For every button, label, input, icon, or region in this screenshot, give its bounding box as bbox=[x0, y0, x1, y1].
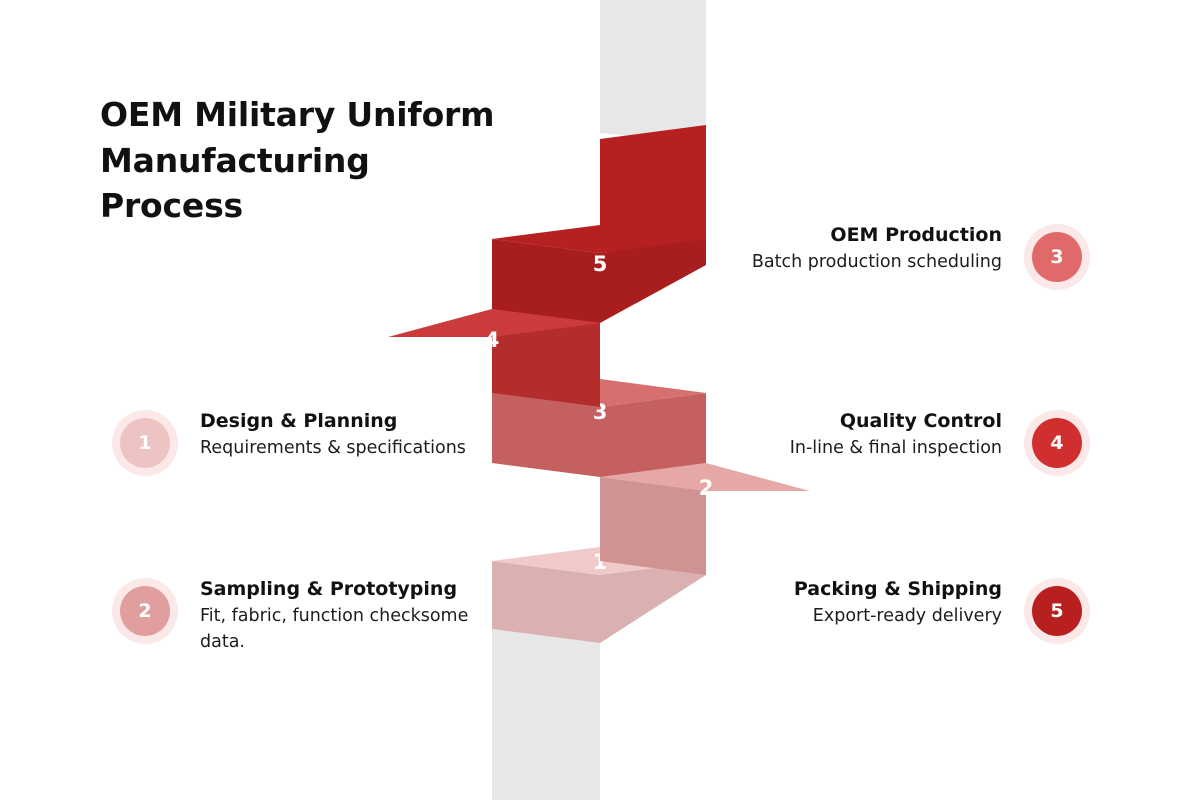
step-label-design-and-planning[interactable]: 1 Design & Planning Requirements & speci… bbox=[112, 410, 466, 476]
step-badge-1-number: 1 bbox=[138, 432, 151, 454]
step-badge-3-number: 3 bbox=[1050, 246, 1063, 268]
step-badge-2-core: 2 bbox=[120, 586, 170, 636]
step-2-front-face bbox=[600, 477, 706, 575]
page-title: OEM Military Uniform Manufacturing Proce… bbox=[100, 92, 520, 229]
step-badge-5-core: 5 bbox=[1032, 586, 1082, 636]
step-1-description: Requirements & specifications bbox=[200, 436, 466, 461]
stair-step-4[interactable]: 4 bbox=[388, 309, 600, 407]
title-line-3: Process bbox=[100, 183, 520, 229]
title-line-2: Manufacturing bbox=[100, 138, 520, 184]
step-badge-3-core: 3 bbox=[1032, 232, 1082, 282]
step-5-title: Packing & Shipping bbox=[794, 578, 1002, 601]
step-label-quality-control[interactable]: 4 Quality Control In-line & final inspec… bbox=[790, 410, 1090, 476]
step-label-sampling-and-prototyping[interactable]: 2 Sampling & Prototyping Fit, fabric, fu… bbox=[112, 578, 496, 655]
step-2-text-block: Sampling & Prototyping Fit, fabric, func… bbox=[200, 578, 496, 655]
step-2-tread-number: 2 bbox=[699, 476, 714, 500]
step-badge-2[interactable]: 2 bbox=[112, 578, 178, 644]
step-label-oem-production[interactable]: 3 OEM Production Batch production schedu… bbox=[752, 224, 1090, 290]
step-4-description: In-line & final inspection bbox=[790, 436, 1002, 461]
step-badge-2-number: 2 bbox=[138, 600, 151, 622]
title-line-1: OEM Military Uniform bbox=[100, 92, 520, 138]
step-badge-5[interactable]: 5 bbox=[1024, 578, 1090, 644]
step-badge-1[interactable]: 1 bbox=[112, 410, 178, 476]
step-5-text-block: Packing & Shipping Export-ready delivery bbox=[794, 578, 1002, 630]
infographic-canvas: 1 2 3 4 5 OEM Mi bbox=[0, 0, 1200, 800]
step-1-title: Design & Planning bbox=[200, 410, 466, 433]
step-3-description: Batch production scheduling bbox=[752, 250, 1002, 275]
stair-step-5[interactable]: 5 bbox=[492, 125, 706, 323]
step-2-description: Fit, fabric, function checksome data. bbox=[200, 604, 496, 655]
step-badge-4[interactable]: 4 bbox=[1024, 410, 1090, 476]
step-badge-4-core: 4 bbox=[1032, 418, 1082, 468]
step-2-title: Sampling & Prototyping bbox=[200, 578, 496, 601]
step-1-text-block: Design & Planning Requirements & specifi… bbox=[200, 410, 466, 462]
step-5-tread-number: 5 bbox=[593, 252, 608, 276]
step-4-tread-number: 4 bbox=[485, 328, 500, 352]
step-4-text-block: Quality Control In-line & final inspecti… bbox=[790, 410, 1002, 462]
step-5-description: Export-ready delivery bbox=[794, 604, 1002, 629]
step-3-text-block: OEM Production Batch production scheduli… bbox=[752, 224, 1002, 276]
step-label-packing-and-shipping[interactable]: 5 Packing & Shipping Export-ready delive… bbox=[794, 578, 1090, 644]
step-badge-4-number: 4 bbox=[1050, 432, 1063, 454]
step-badge-3[interactable]: 3 bbox=[1024, 224, 1090, 290]
stair-step-2[interactable]: 2 bbox=[600, 463, 810, 575]
step-badge-5-number: 5 bbox=[1050, 600, 1063, 622]
step-4-title: Quality Control bbox=[790, 410, 1002, 433]
step-3-title: OEM Production bbox=[752, 224, 1002, 247]
step-badge-1-core: 1 bbox=[120, 418, 170, 468]
